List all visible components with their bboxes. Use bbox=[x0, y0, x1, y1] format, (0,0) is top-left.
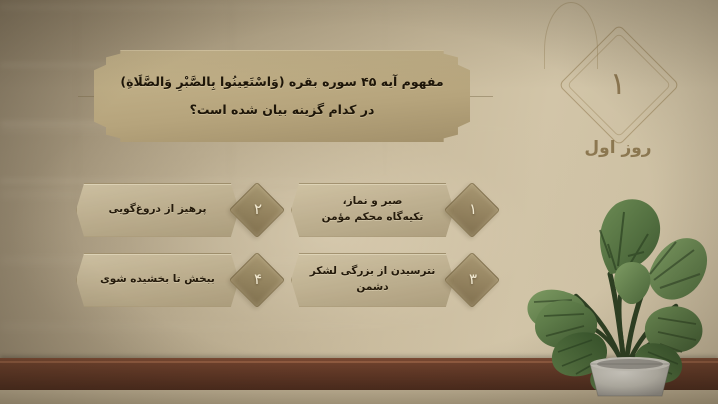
answer-option-2-box[interactable]: پرهیز از دروغ‌گویی bbox=[76, 183, 239, 237]
answer-option-3[interactable]: نترسیدن از بزرگی لشکر دشمن ۳ bbox=[293, 253, 498, 305]
answer-option-1-line-1: صبر و نماز، bbox=[322, 194, 424, 210]
day-badge-number: ۱ bbox=[576, 42, 660, 126]
answer-option-4-box[interactable]: ببخش تا بخشیده شوی bbox=[76, 253, 239, 307]
answer-option-2-number: ۲ bbox=[239, 190, 277, 228]
answer-option-2-line-1: پرهیز از دروغ‌گویی bbox=[109, 202, 207, 218]
answer-options-grid: صبر و نماز، تکیه‌گاه محکم مؤمن ۱ پرهیز ا… bbox=[78, 183, 498, 305]
question-line-2: در کدام گزینه بیان شده است؟ bbox=[190, 102, 375, 119]
question-banner: مفهوم آیه ۴۵ سوره بقره (وَاسْتَعِینُوا ب… bbox=[72, 50, 492, 142]
day-badge: ۱ روز اول bbox=[562, 42, 674, 180]
answer-option-1-line-2: تکیه‌گاه محکم مؤمن bbox=[322, 210, 424, 226]
answer-option-3-number: ۳ bbox=[454, 260, 492, 298]
answer-option-1-box[interactable]: صبر و نماز، تکیه‌گاه محکم مؤمن bbox=[291, 183, 454, 237]
answer-option-4-line-1: ببخش تا بخشیده شوی bbox=[100, 272, 215, 288]
answer-option-4-number: ۴ bbox=[239, 260, 277, 298]
answer-option-3-box[interactable]: نترسیدن از بزرگی لشکر دشمن bbox=[291, 253, 454, 307]
quiz-slide: مفهوم آیه ۴۵ سوره بقره (وَاسْتَعِینُوا ب… bbox=[0, 0, 718, 404]
answer-option-2-text: پرهیز از دروغ‌گویی bbox=[97, 202, 219, 218]
question-text: مفهوم آیه ۴۵ سوره بقره (وَاسْتَعِینُوا ب… bbox=[102, 50, 462, 142]
answer-option-1-text: صبر و نماز، تکیه‌گاه محکم مؤمن bbox=[310, 194, 436, 226]
answer-option-3-line-1: نترسیدن از بزرگی لشکر دشمن bbox=[304, 264, 441, 296]
answer-option-1[interactable]: صبر و نماز، تکیه‌گاه محکم مؤمن ۱ bbox=[293, 183, 498, 235]
answer-option-4[interactable]: ببخش تا بخشیده شوی ۴ bbox=[78, 253, 283, 305]
answer-option-1-number: ۱ bbox=[454, 190, 492, 228]
answer-option-3-text: نترسیدن از بزرگی لشکر دشمن bbox=[292, 264, 453, 296]
question-line-1: مفهوم آیه ۴۵ سوره بقره (وَاسْتَعِینُوا ب… bbox=[120, 74, 443, 91]
answer-option-4-text: ببخش تا بخشیده شوی bbox=[88, 272, 227, 288]
answer-option-2[interactable]: پرهیز از دروغ‌گویی ۲ bbox=[78, 183, 283, 235]
day-badge-label: روز اول bbox=[562, 138, 674, 158]
monstera-plant bbox=[498, 178, 710, 398]
